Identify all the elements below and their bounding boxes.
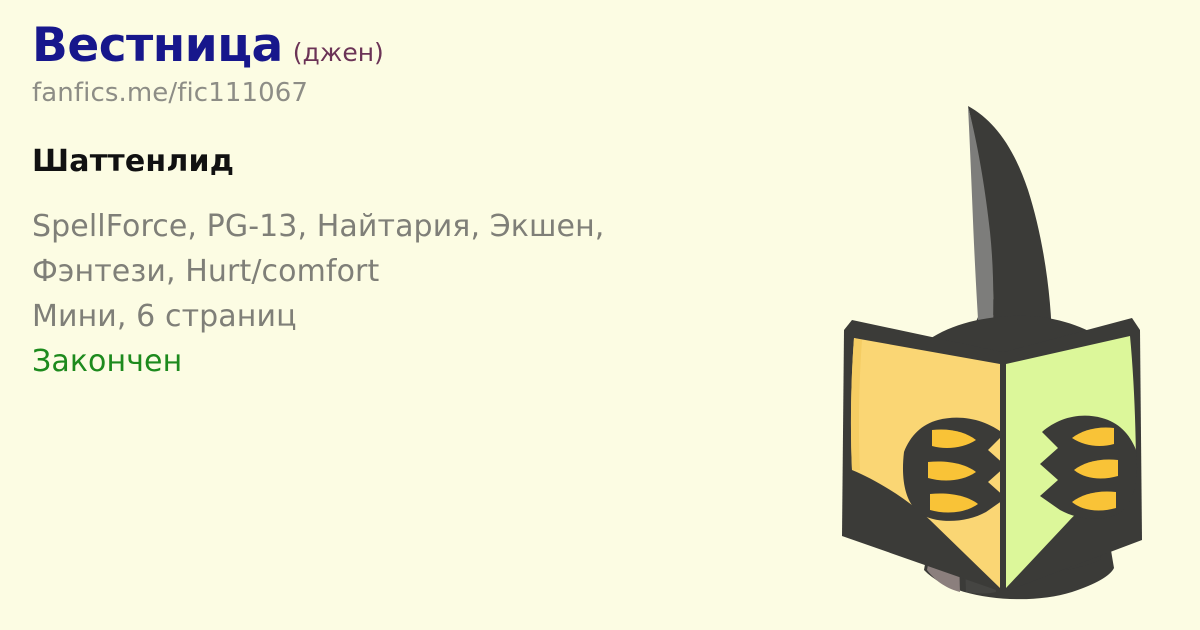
book-page-right — [1005, 336, 1137, 588]
book-page-left-edge — [851, 338, 862, 470]
left-hand-group — [903, 418, 1006, 521]
book-page-left — [851, 338, 1002, 588]
work-tags-line: SpellForce, PG-13, Найтария, Экшен, Фэнт… — [32, 204, 672, 294]
torso-behind-book — [924, 316, 1113, 575]
status-badge: Закончен — [32, 339, 822, 384]
book-back-cover-left — [842, 320, 1002, 592]
right-hand-group — [1040, 416, 1137, 519]
hat-brim — [925, 334, 1079, 392]
robe-group — [924, 296, 1114, 599]
left-claw-3 — [930, 493, 978, 512]
robe-body — [924, 296, 1114, 599]
page-title: Вестница — [32, 22, 283, 69]
open-book-group — [842, 318, 1142, 592]
title-row: Вестница (джен) — [32, 22, 822, 69]
right-shoulder — [1078, 372, 1136, 536]
left-hand — [903, 418, 1006, 521]
robe-highlight — [927, 314, 996, 592]
right-hand — [1040, 416, 1137, 519]
left-claw-2 — [928, 461, 976, 480]
work-metadata: SpellForce, PG-13, Найтария, Экшен, Фэнт… — [32, 204, 822, 384]
hat-buckle-hole — [1021, 360, 1048, 387]
text-column: Вестница (джен) fanfics.me/fic111067 Шат… — [32, 22, 822, 384]
work-title: Шаттенлид — [32, 145, 822, 178]
witch-hat-group — [925, 106, 1079, 400]
left-shoulder — [909, 368, 957, 534]
site-url[interactable]: fanfics.me/fic111067 — [32, 79, 822, 108]
hat-buckle-icon — [1006, 347, 1062, 400]
right-claw-2 — [1074, 459, 1118, 478]
hat-highlight — [968, 106, 993, 348]
book-back-cover-right — [1004, 318, 1142, 592]
og-preview-card: Вестница (джен) fanfics.me/fic111067 Шат… — [0, 0, 1200, 630]
book-spine — [1000, 358, 1006, 592]
witch-reading-book-illustration — [780, 0, 1200, 630]
right-claw-3 — [1072, 491, 1116, 510]
work-size-line: Мини, 6 страниц — [32, 294, 822, 339]
right-claw-1 — [1072, 427, 1114, 446]
pairing-label: (джен) — [293, 40, 384, 65]
shoulders-group — [909, 316, 1137, 575]
robe-inner-shade — [965, 310, 1020, 594]
left-claw-1 — [932, 429, 976, 448]
hat-cone — [968, 106, 1052, 348]
